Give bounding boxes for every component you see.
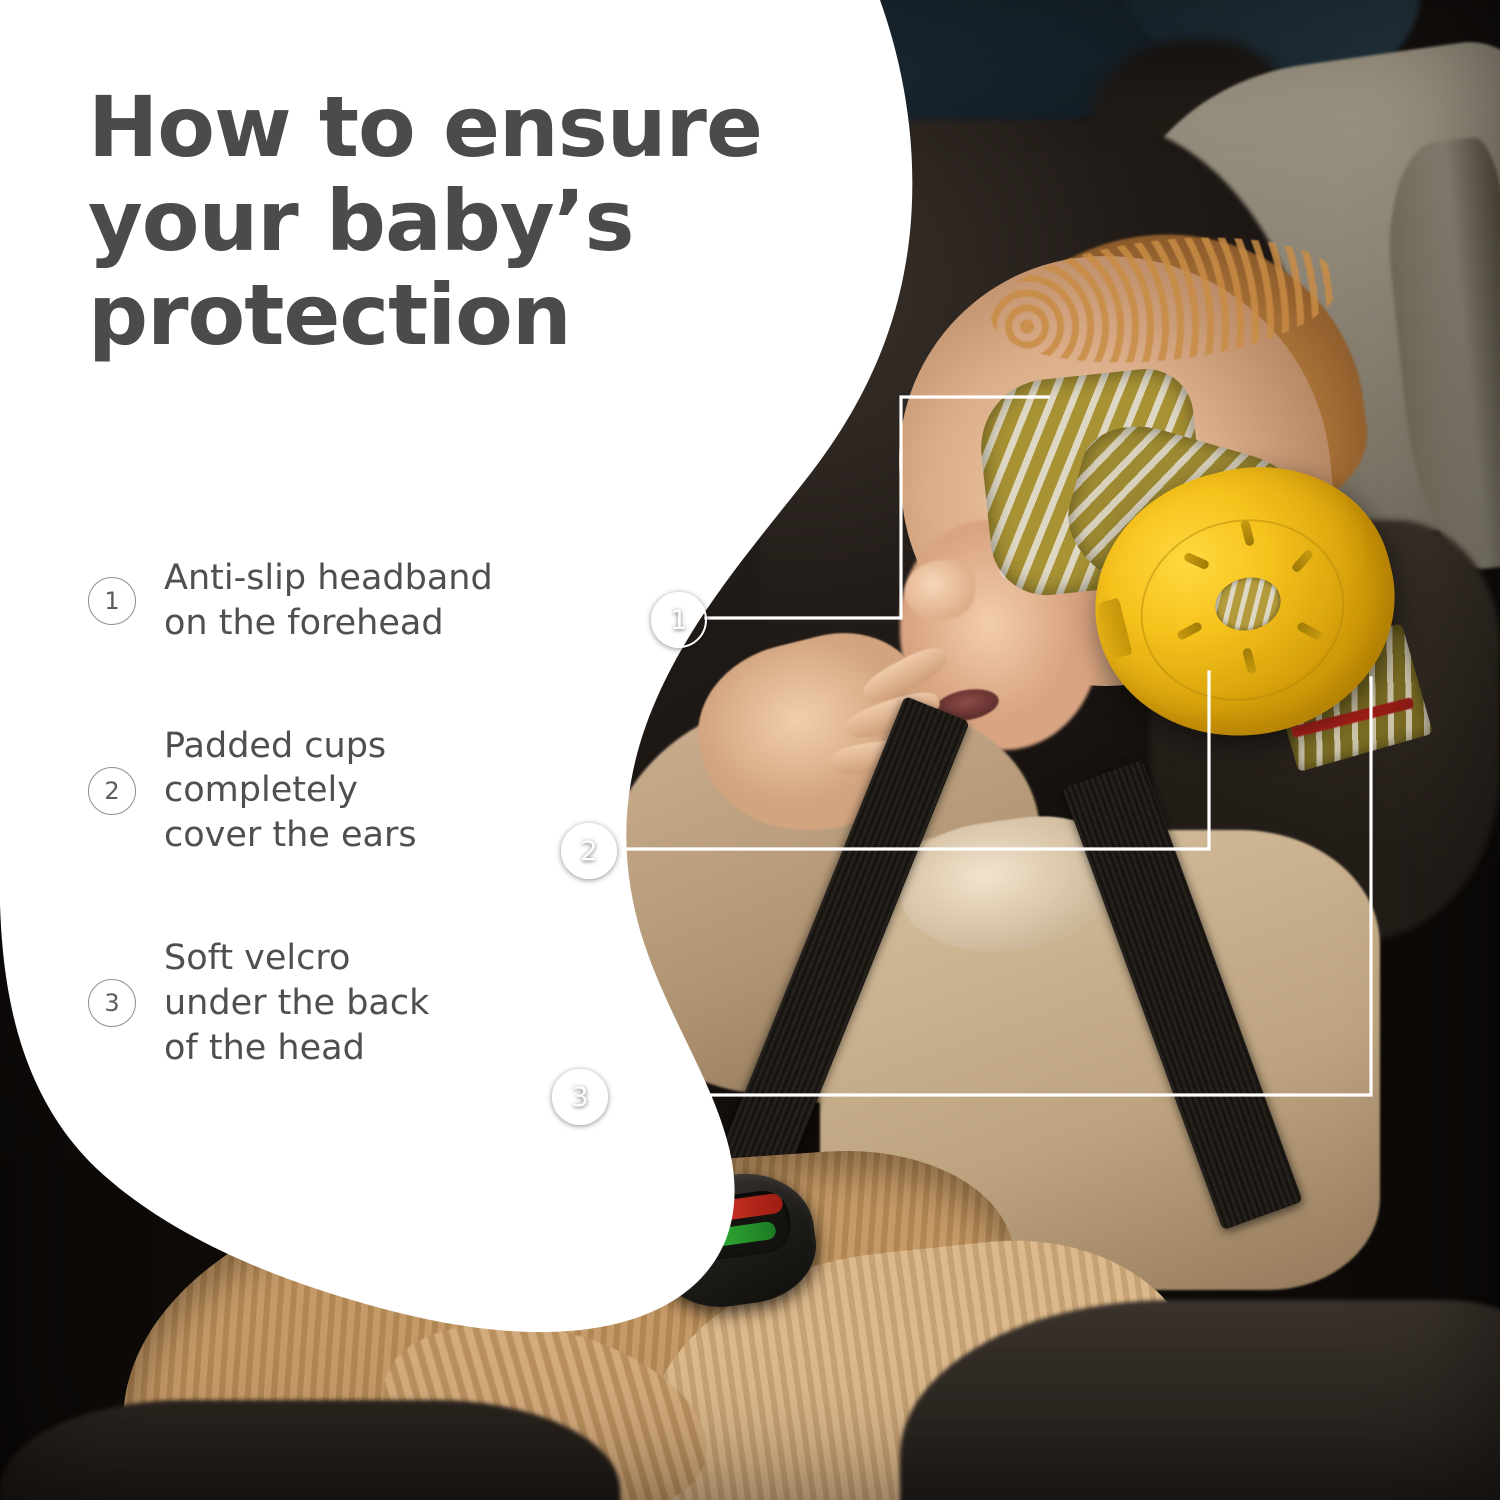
- feature-number-badge: 1: [88, 577, 136, 625]
- list-item: 3 Soft velcro under the back of the head: [88, 936, 648, 1070]
- feature-number-badge: 2: [88, 767, 136, 815]
- callout-marker-1: 1: [651, 592, 707, 648]
- feature-text: Soft velcro under the back of the head: [164, 936, 429, 1070]
- feature-number-badge: 3: [88, 979, 136, 1027]
- callout-marker-3: 3: [552, 1069, 608, 1125]
- feature-text: Padded cups completely cover the ears: [164, 724, 417, 858]
- text-panel: How to ensure your baby’s protection 1 A…: [0, 0, 720, 1280]
- feature-text: Anti-slip headband on the forehead: [164, 556, 493, 646]
- page-title: How to ensure your baby’s protection: [88, 80, 848, 362]
- list-item: 1 Anti-slip headband on the forehead: [88, 556, 648, 646]
- infographic-canvas: How to ensure your baby’s protection 1 A…: [0, 0, 1500, 1500]
- callout-marker-2: 2: [561, 823, 617, 879]
